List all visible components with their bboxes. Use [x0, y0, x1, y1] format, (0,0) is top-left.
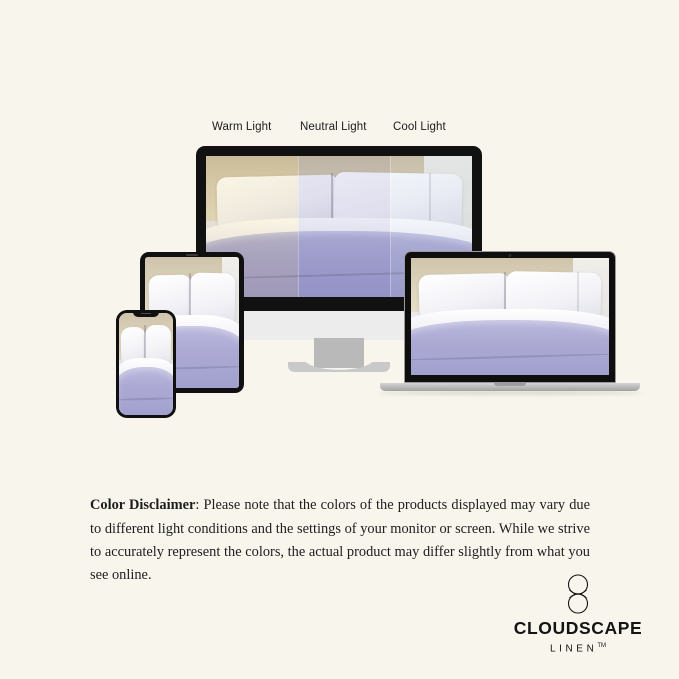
- duvet: [411, 320, 609, 375]
- band-divider: [390, 156, 391, 297]
- pillow-seam: [189, 273, 191, 320]
- brand-name: CLOUDSCAPE: [508, 620, 648, 638]
- duvet-fold: [411, 353, 609, 361]
- brand-subtitle: LINENTM: [550, 643, 606, 654]
- lighting-labels: Warm Light Neutral Light Cool Light: [196, 121, 482, 139]
- bedding-scene-laptop: [411, 258, 609, 375]
- device-phone: [116, 310, 176, 418]
- phone-notch: [133, 310, 159, 317]
- brand-lockup: CLOUDSCAPE LINENTM: [508, 573, 648, 656]
- laptop-shadow: [378, 391, 642, 395]
- device-laptop: [404, 251, 616, 383]
- laptop-base-notch: [494, 383, 526, 386]
- tablet-camera-icon: [186, 254, 198, 256]
- lighting-label-neutral: Neutral Light: [300, 121, 367, 133]
- lighting-label-warm: Warm Light: [212, 121, 271, 133]
- phone-screen: [119, 313, 173, 415]
- brand-subtitle-text: LINEN: [550, 643, 597, 654]
- duvet-fold: [119, 398, 173, 402]
- infographic-canvas: Warm Light Neutral Light Cool Light: [0, 0, 679, 679]
- laptop-screen: [411, 258, 609, 375]
- pillow-seam: [144, 325, 146, 362]
- pillow-seam: [331, 173, 333, 224]
- pillow-seam: [429, 173, 431, 224]
- pillow-seam: [504, 272, 506, 314]
- bedding-scene-phone: [119, 313, 173, 415]
- duvet: [119, 367, 173, 415]
- infinity-loop-logo-icon: [561, 573, 595, 615]
- disclaimer-heading: Color Disclaimer: [90, 497, 195, 513]
- band-divider: [298, 156, 299, 297]
- lighting-label-cool: Cool Light: [393, 121, 446, 133]
- monitor-foot: [288, 362, 390, 372]
- laptop-camera-icon: [509, 254, 512, 257]
- trademark-symbol: TM: [597, 643, 606, 649]
- pillow-seam: [577, 272, 579, 314]
